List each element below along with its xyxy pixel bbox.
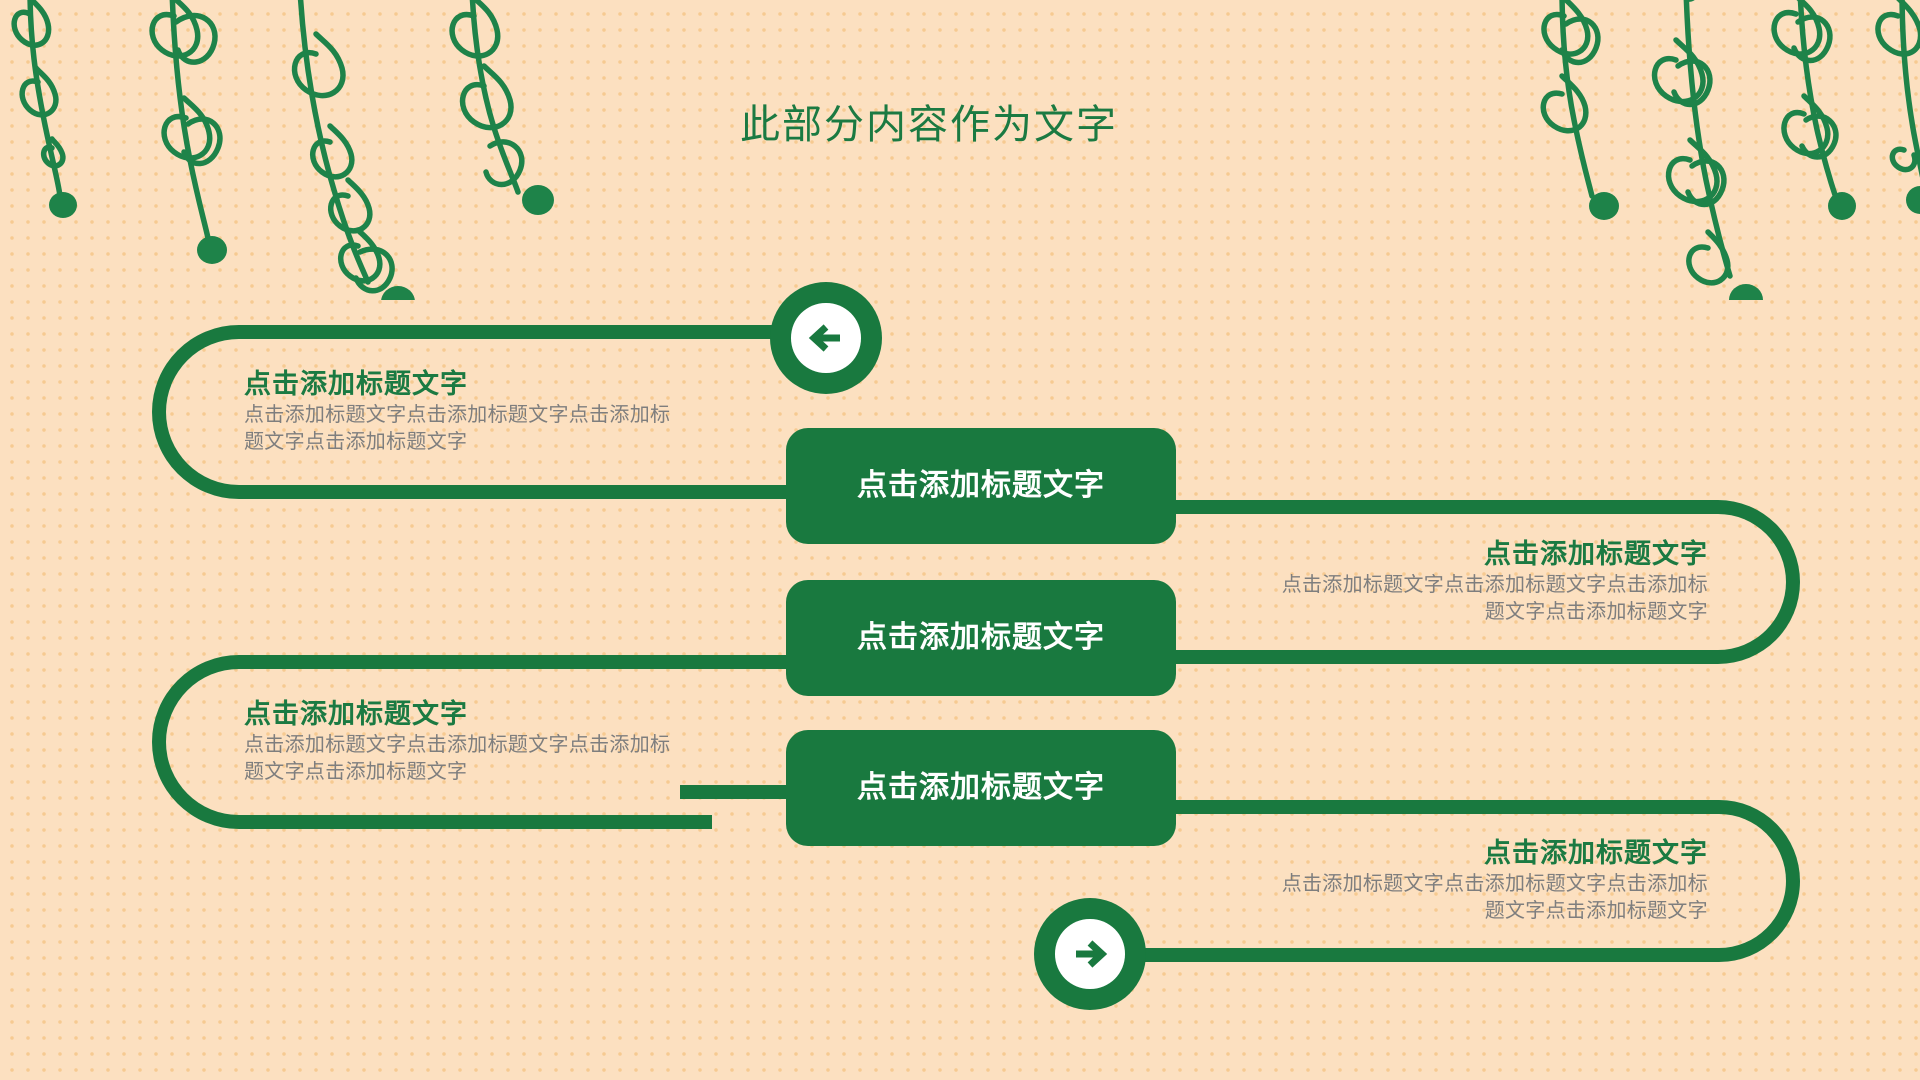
left-item-1-capsule[interactable]: 点击添加标题文字 点击添加标题文字点击添加标题文字点击添加标题文字点击添加标题文…	[152, 325, 712, 499]
right-item-1-heading: 点击添加标题文字	[1484, 538, 1708, 570]
slide-title: 此部分内容作为文字	[740, 92, 1210, 150]
left-item-1-heading: 点击添加标题文字	[244, 368, 468, 400]
center-box-2[interactable]: 点击添加标题文字	[786, 580, 1176, 696]
right-item-2-body: 点击添加标题文字点击添加标题文字点击添加标题文字点击添加标题文字	[1270, 871, 1708, 925]
center-box-1-label: 点击添加标题文字	[857, 467, 1105, 505]
left-item-1-body: 点击添加标题文字点击添加标题文字点击添加标题文字点击添加标题文字	[244, 402, 672, 456]
right-item-1-body: 点击添加标题文字点击添加标题文字点击添加标题文字点击添加标题文字	[1270, 572, 1708, 626]
right-item-2-heading: 点击添加标题文字	[1484, 837, 1708, 869]
left-item-2-heading: 点击添加标题文字	[244, 698, 468, 730]
right-vine-decoration	[1500, 0, 1920, 300]
center-box-3-label: 点击添加标题文字	[857, 769, 1105, 807]
center-box-2-label: 点击添加标题文字	[857, 619, 1105, 657]
arrow-right-circle-inner	[1055, 919, 1124, 988]
center-box-3[interactable]: 点击添加标题文字	[786, 730, 1176, 846]
arrow-left-circle-inner	[791, 303, 860, 372]
arrow-right-circle-icon[interactable]	[1034, 898, 1146, 1010]
slide-canvas: 此部分内容作为文字 点击添加标题文字 点击添加标题文字点击添加标题文字点击添加标…	[0, 0, 1920, 1080]
arrow-left-circle-icon[interactable]	[770, 282, 882, 394]
right-item-2-capsule[interactable]: 点击添加标题文字 点击添加标题文字点击添加标题文字点击添加标题文字点击添加标题文…	[1230, 800, 1800, 962]
center-box-1[interactable]: 点击添加标题文字	[786, 428, 1176, 544]
right-item-1-capsule[interactable]: 点击添加标题文字 点击添加标题文字点击添加标题文字点击添加标题文字点击添加标题文…	[1230, 500, 1800, 664]
left-vine-decoration	[0, 0, 560, 300]
left-item-2-body: 点击添加标题文字点击添加标题文字点击添加标题文字点击添加标题文字	[244, 732, 672, 786]
left-item-2-capsule[interactable]: 点击添加标题文字 点击添加标题文字点击添加标题文字点击添加标题文字点击添加标题文…	[152, 655, 712, 829]
